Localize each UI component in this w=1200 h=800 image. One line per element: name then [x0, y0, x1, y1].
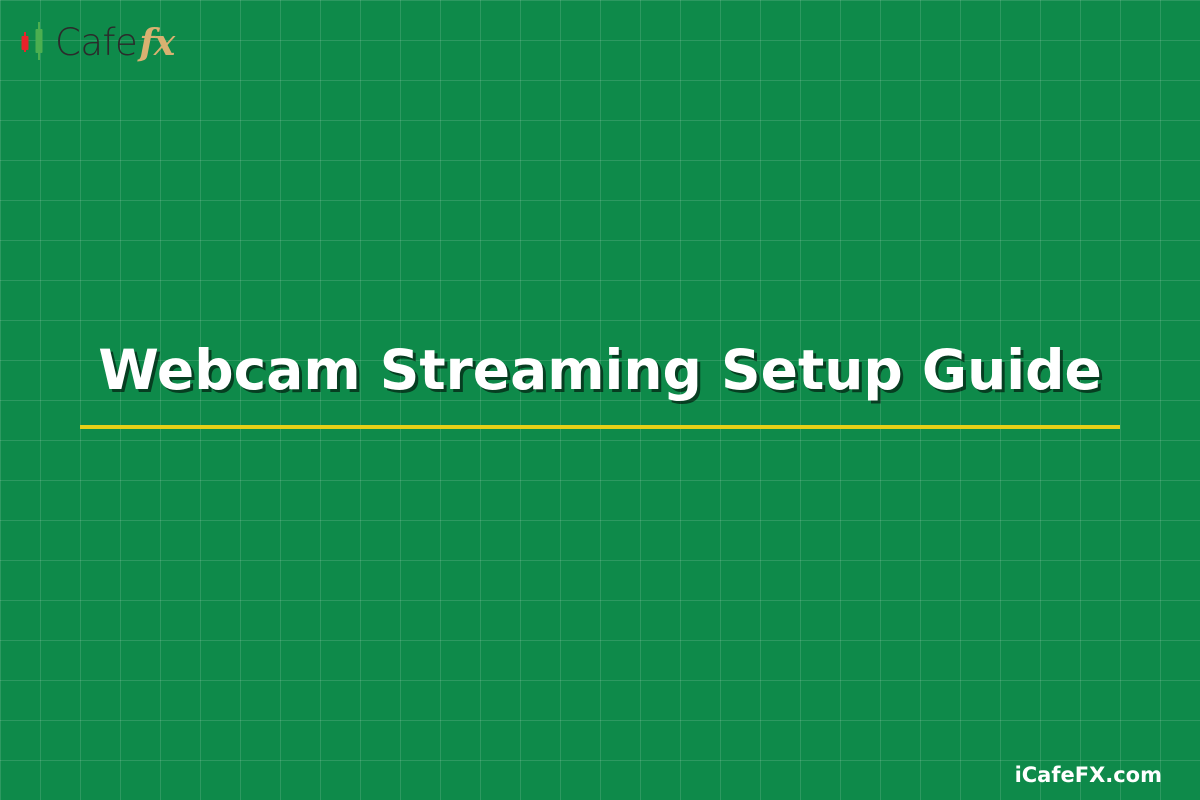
logo-wordmark: Cafe fx: [55, 24, 174, 61]
slide-canvas: Cafe fx Webcam Streaming Setup Guide iCa…: [0, 0, 1200, 800]
title-block: Webcam Streaming Setup Guide: [0, 340, 1200, 429]
logo-text-cafe: Cafe: [55, 24, 137, 61]
title-underline-rule: [80, 425, 1120, 429]
logo-text-fx: fx: [139, 25, 174, 61]
brand-logo: Cafe fx: [20, 20, 174, 64]
footer-watermark: iCafeFX.com: [1015, 765, 1162, 786]
candlestick-chart-icon: [20, 21, 54, 63]
page-title: Webcam Streaming Setup Guide: [0, 340, 1200, 401]
